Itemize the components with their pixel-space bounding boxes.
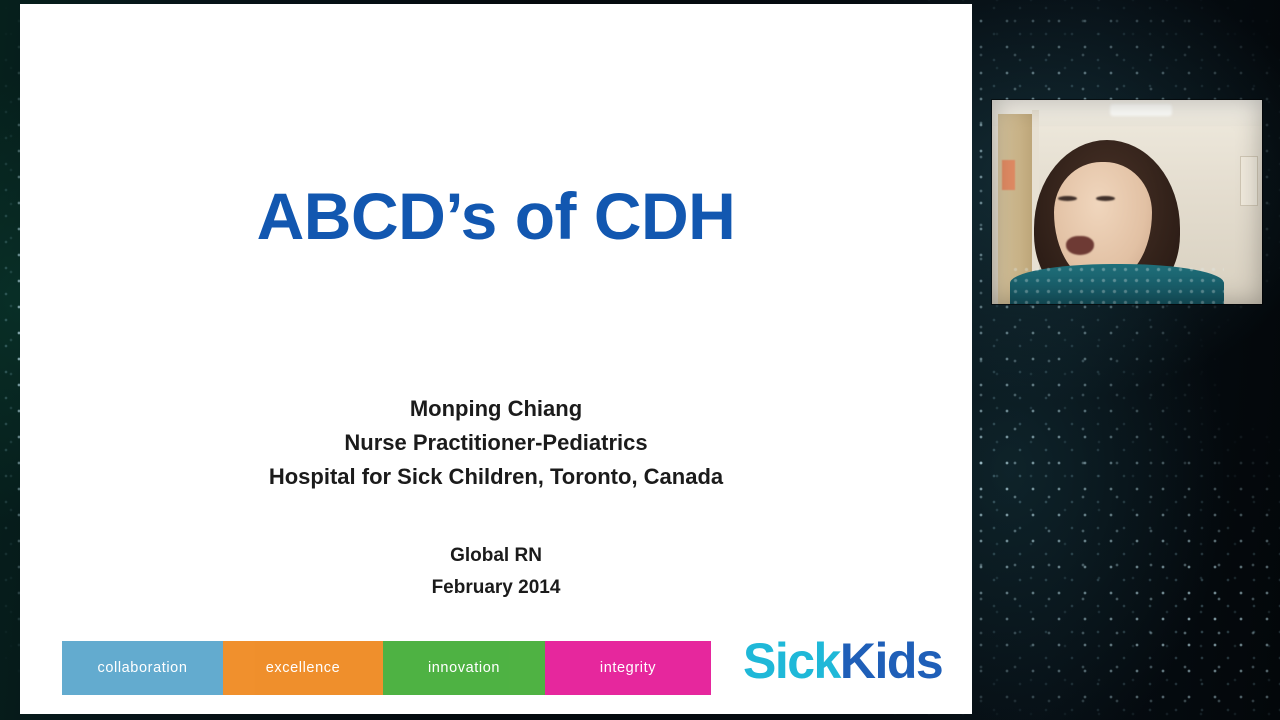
sickkids-logo: SickKids xyxy=(743,636,942,686)
presenter-role: Nurse Practitioner-Pediatrics xyxy=(20,426,972,460)
webcam-person-shirt xyxy=(1010,264,1224,304)
webcam-person-mouth xyxy=(1066,236,1094,255)
webcam-person-eye-right xyxy=(1096,196,1115,201)
webcam-ceiling-light xyxy=(1110,104,1172,116)
presenter-name: Monping Chiang xyxy=(20,392,972,426)
webcam-wall-frame xyxy=(1240,156,1258,206)
event-name: Global RN xyxy=(20,540,972,572)
webcam-shirt-pattern xyxy=(1010,264,1224,304)
presenter-info: Monping Chiang Nurse Practitioner-Pediat… xyxy=(20,392,972,494)
presenter-affiliation: Hospital for Sick Children, Toronto, Can… xyxy=(20,460,972,494)
webcam-wall-sign xyxy=(1002,160,1015,190)
value-segment-excellence: excellence xyxy=(223,641,383,695)
value-segment-collaboration: collaboration xyxy=(62,641,223,695)
webinar-screen: ABCD’s of CDH Monping Chiang Nurse Pract… xyxy=(0,0,1280,720)
logo-text-sick: Sick xyxy=(743,633,840,689)
value-segment-integrity: integrity xyxy=(545,641,711,695)
page-title: ABCD’s of CDH xyxy=(20,182,972,251)
values-bar: collaboration excellence innovation inte… xyxy=(62,641,711,695)
logo-text-kids: Kids xyxy=(840,633,942,689)
webcam-person-eye-left xyxy=(1058,196,1077,201)
presenter-webcam[interactable] xyxy=(992,100,1262,304)
event-info: Global RN February 2014 xyxy=(20,540,972,604)
presentation-slide: ABCD’s of CDH Monping Chiang Nurse Pract… xyxy=(20,4,972,714)
event-date: February 2014 xyxy=(20,572,972,604)
value-segment-innovation: innovation xyxy=(383,641,545,695)
